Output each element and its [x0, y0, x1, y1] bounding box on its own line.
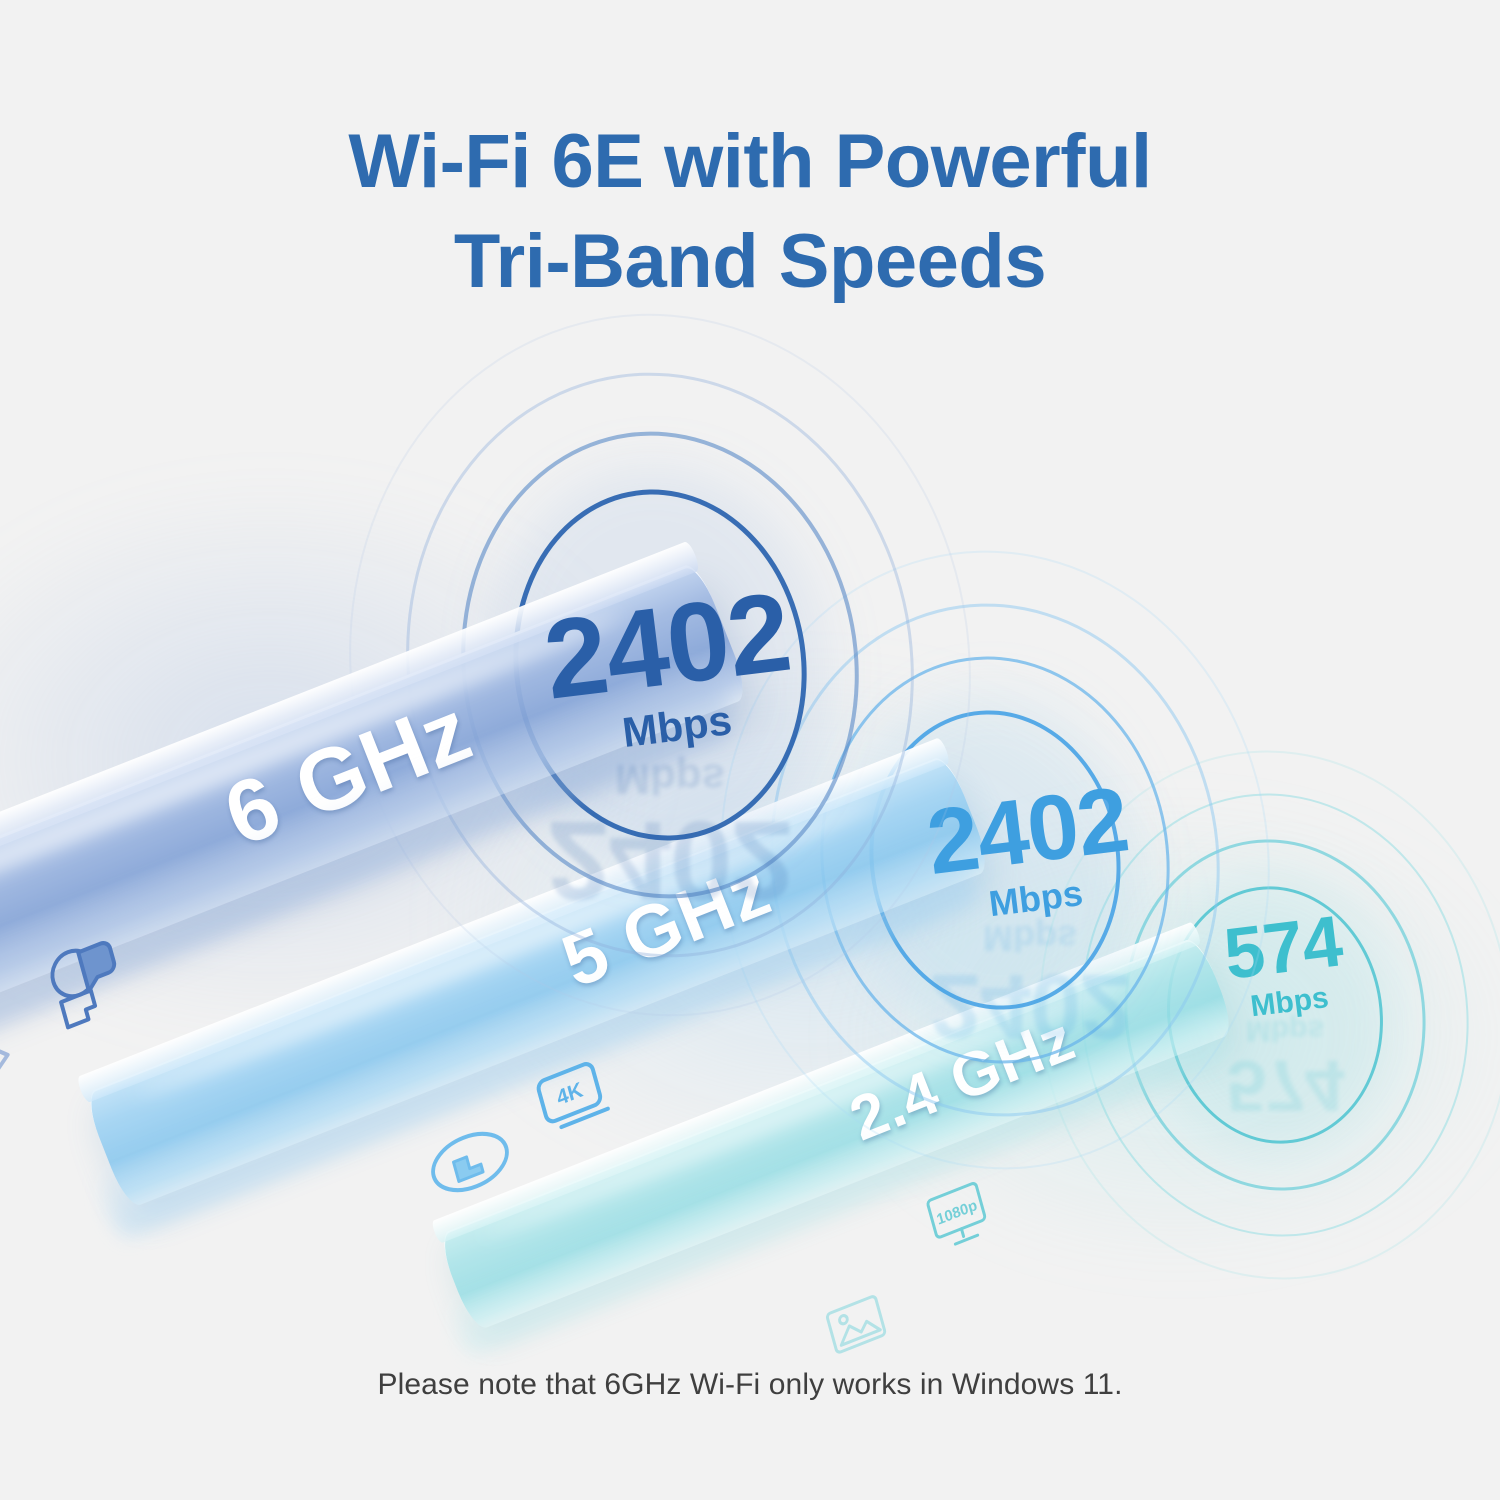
vr-headset-icon [35, 926, 145, 1035]
speed-value: 574 [1179, 900, 1386, 996]
promo-image-canvas: Wi-Fi 6E with Powerful Tri-Band Speeds 2… [0, 0, 1500, 1500]
band-5ghz: 5 GHz 4K 2402 Mbps 2 [0, 300, 1500, 1340]
ripple-ring-2 [431, 406, 888, 925]
speed-label-6ghz: 2402 Mbps [516, 573, 823, 765]
beam-5ghz: 5 GHz [82, 753, 993, 1209]
ripple-rings-2.4ghz [1027, 767, 1500, 1264]
photo-icon [824, 1290, 891, 1358]
ambient-glow-right [830, 800, 1500, 1270]
page-title: Wi-Fi 6E with Powerful Tri-Band Speeds [0, 112, 1500, 313]
band-label-5ghz: 5 GHz [551, 846, 782, 1004]
beam-reflection-2.4ghz [444, 1002, 1229, 1358]
ripple-ring-2 [794, 634, 1195, 1086]
beam-2.4ghz: 2.4 GHz [436, 935, 1237, 1332]
svg-text:1080p: 1080p [935, 1197, 979, 1229]
beam-top-facet [430, 921, 1202, 1244]
speed-value: 2402 [898, 770, 1157, 892]
ring-glow [828, 671, 1162, 1048]
speed-unit: Mbps [1189, 976, 1391, 1030]
ripple-ring-3 [1053, 768, 1497, 1261]
ripple-ring-1 [491, 470, 829, 859]
ripple-ring-1 [1151, 872, 1400, 1157]
ring-glow [1131, 854, 1419, 1176]
svg-text:4K: 4K [554, 1078, 585, 1110]
beam-specular [132, 792, 883, 1102]
beam-body [0, 561, 751, 1096]
4k-monitor-icon: 4K [534, 1056, 615, 1140]
footnote-text: Please note that 6GHz Wi-Fi only works i… [0, 1368, 1500, 1402]
speed-unit-mirror: Mbps [1185, 1015, 1385, 1045]
speed-label-2.4ghz: 574 Mbps [1179, 900, 1390, 1030]
rocket-icon [0, 1027, 30, 1121]
ambient-glow-mid [430, 660, 1190, 1180]
beam-6ghz: 6 GHz [0, 561, 751, 1096]
speed-value-mirror: 2402 [525, 804, 815, 916]
ripple-rings-5ghz [701, 566, 1288, 1153]
beam-top-facet [76, 737, 952, 1104]
speed-unit-mirror: Mbps [525, 758, 815, 800]
speed-reflection-6ghz: 2402 Mbps [525, 758, 815, 916]
beam-specular [0, 605, 625, 968]
ripple-rings-6ghz [321, 326, 999, 1004]
speed-reflection-5ghz: 2402 Mbps [905, 920, 1155, 1052]
ripple-ring-1 [850, 694, 1139, 1026]
speed-unit: Mbps [531, 688, 824, 765]
speed-unit-mirror: Mbps [905, 920, 1155, 956]
beam-specular [476, 972, 1133, 1243]
band-label-2.4ghz: 2.4 GHz [840, 1003, 1084, 1155]
ripple-ring-4 [304, 273, 1016, 1056]
beam-top-facet [0, 540, 701, 969]
ripple-ring-2 [1102, 820, 1448, 1210]
speed-value-mirror: 574 [1185, 1049, 1385, 1121]
speed-unit: Mbps [910, 866, 1163, 932]
game-controller-icon [423, 1118, 517, 1207]
ripple-ring-4 [681, 515, 1310, 1205]
tri-band-illustration: 2.4 GHz 1080p 574 [0, 300, 1500, 1340]
beam-body [82, 753, 993, 1209]
band-2.4ghz: 2.4 GHz 1080p 574 [0, 300, 1500, 1340]
speed-value: 2402 [516, 573, 817, 720]
1080p-monitor-icon: 1080p [925, 1178, 998, 1255]
ripple-ring-3 [737, 574, 1252, 1145]
ambient-glow-left [0, 480, 660, 1040]
beam-reflection-5ghz [92, 834, 984, 1242]
speed-label-5ghz: 2402 Mbps [898, 770, 1162, 931]
ripple-ring-4 [1005, 720, 1500, 1310]
beam-reflection-6ghz [0, 655, 740, 1133]
band-label-6ghz: 6 GHz [211, 678, 485, 866]
band-6ghz: 6 GHz 2402 Mbps 240 [0, 300, 1500, 1340]
ripple-ring-3 [369, 340, 952, 991]
speed-value-mirror: 2402 [905, 960, 1155, 1052]
beam-body [436, 935, 1237, 1332]
ring-glow [464, 443, 856, 886]
speed-reflection-2.4ghz: 574 Mbps [1185, 1015, 1385, 1121]
